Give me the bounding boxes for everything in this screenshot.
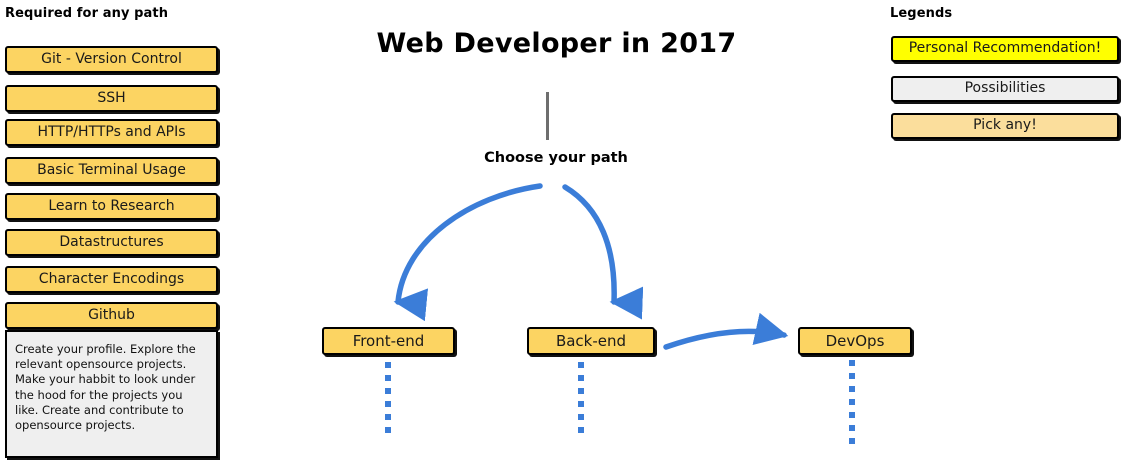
required-item-ssh[interactable]: SSH: [5, 85, 218, 112]
legend-possibilities: Possibilities: [891, 76, 1119, 102]
required-item-github[interactable]: Github: [5, 302, 218, 329]
continuation-dots-backend: [578, 362, 585, 440]
arrow-center-to-frontend: [398, 186, 540, 302]
required-item-learn-to-research[interactable]: Learn to Research: [5, 193, 218, 220]
legend-pick-any: Pick any!: [891, 113, 1119, 139]
path-box-frontend[interactable]: Front-end: [322, 327, 455, 355]
arrow-center-to-backend: [565, 187, 614, 302]
path-box-backend[interactable]: Back-end: [527, 327, 655, 355]
choose-your-path-label: Choose your path: [476, 150, 636, 166]
root-stem-line: [546, 92, 549, 140]
continuation-dots-devops: [849, 360, 856, 451]
github-description-note: Create your profile. Explore the relevan…: [5, 330, 218, 458]
roadmap-canvas: Required for any path Git - Version Cont…: [0, 0, 1129, 465]
legend-personal-recommendation: Personal Recommendation!: [891, 36, 1119, 62]
path-box-devops[interactable]: DevOps: [798, 327, 912, 355]
page-title-text: Web Developer in 2017: [377, 28, 737, 59]
required-item-basic-terminal-usage[interactable]: Basic Terminal Usage: [5, 157, 218, 184]
arrow-backend-to-devops: [666, 331, 784, 347]
required-item-http-apis[interactable]: HTTP/HTTPs and APIs: [5, 119, 218, 146]
required-item-character-encodings[interactable]: Character Encodings: [5, 266, 218, 293]
continuation-dots-frontend: [385, 362, 392, 440]
required-item-datastructures[interactable]: Datastructures: [5, 229, 218, 256]
required-section-heading: Required for any path: [5, 6, 168, 21]
legends-section-heading: Legends: [890, 6, 952, 21]
